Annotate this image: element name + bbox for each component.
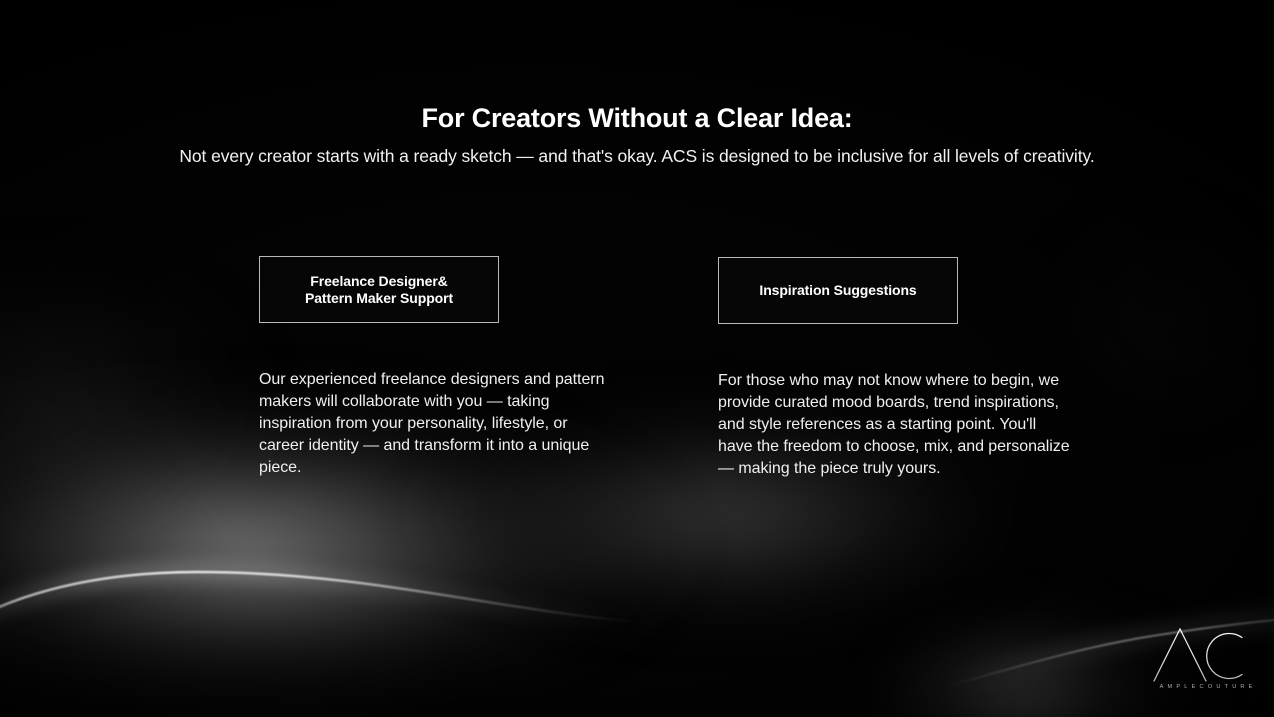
brand-wordmark: AMPLECOUTURE xyxy=(1153,684,1259,690)
brand-logo: AMPLECOUTURE xyxy=(1150,624,1262,700)
slide-content: For Creators Without a Clear Idea: Not e… xyxy=(0,0,1274,717)
feature-card-description: For those who may not know where to begi… xyxy=(718,370,1070,480)
feature-columns: Freelance Designer& Pattern Maker Suppor… xyxy=(0,0,1274,717)
feature-card-description: Our experienced freelance designers and … xyxy=(259,369,611,479)
feature-column-freelance-support: Freelance Designer& Pattern Maker Suppor… xyxy=(259,256,679,479)
feature-card-box[interactable]: Freelance Designer& Pattern Maker Suppor… xyxy=(259,256,499,323)
presentation-slide: For Creators Without a Clear Idea: Not e… xyxy=(0,0,1274,717)
feature-column-inspiration-suggestions: Inspiration Suggestions For those who ma… xyxy=(718,257,1138,480)
ac-monogram-icon xyxy=(1150,624,1262,686)
feature-card-title: Inspiration Suggestions xyxy=(759,282,916,299)
feature-card-title: Freelance Designer& Pattern Maker Suppor… xyxy=(305,273,453,307)
feature-card-box[interactable]: Inspiration Suggestions xyxy=(718,257,958,324)
